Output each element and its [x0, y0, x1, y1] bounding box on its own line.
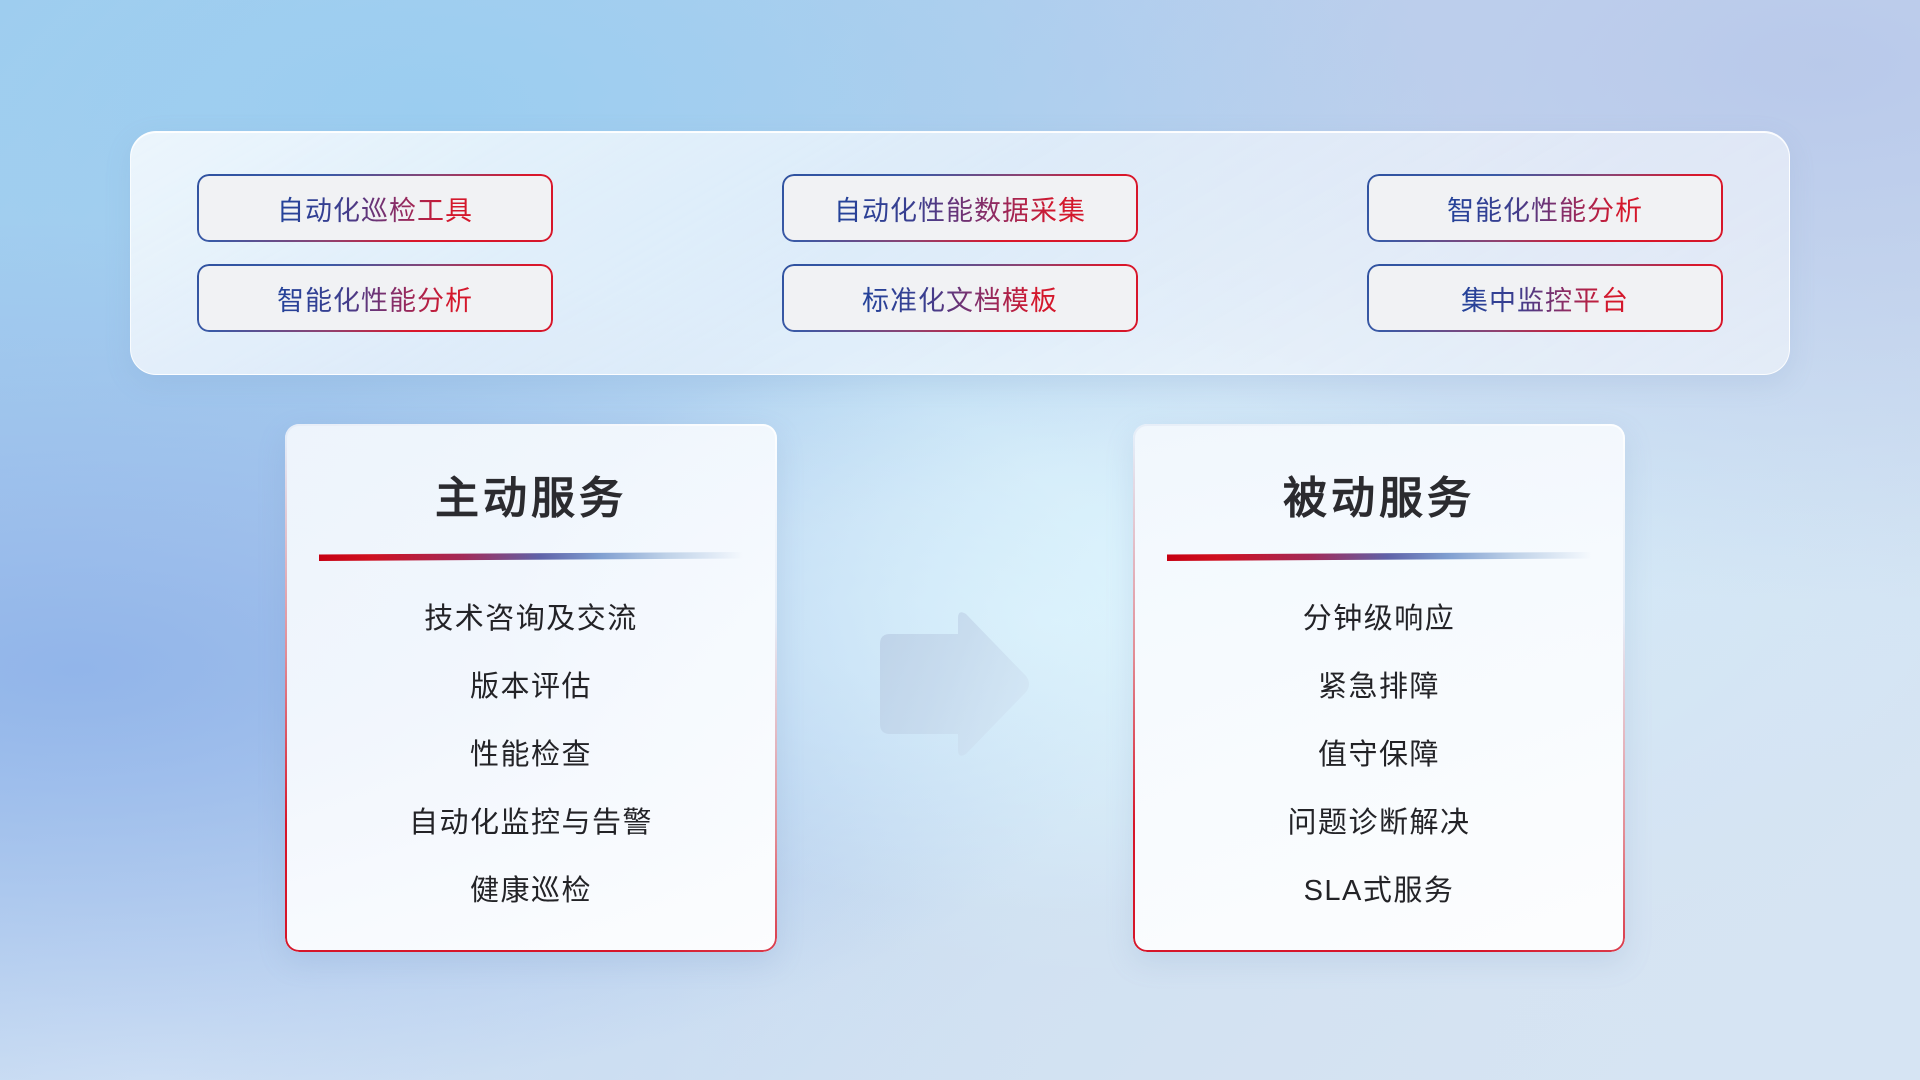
title-divider: [1167, 552, 1591, 561]
list-item: 版本评估: [470, 663, 592, 705]
capability-pill-label: 智能化性能分析: [1447, 189, 1643, 228]
list-item: 问题诊断解决: [1287, 799, 1470, 841]
list-item: 健康巡检: [470, 867, 592, 909]
list-item: 自动化监控与告警: [409, 799, 653, 841]
capability-pill-intelligent-performance-analysis-2[interactable]: 智能化性能分析: [197, 264, 553, 332]
list-item: SLA式服务: [1304, 867, 1455, 909]
capability-pill-automated-inspection-tool[interactable]: 自动化巡检工具: [197, 174, 553, 242]
slide-canvas: 自动化巡检工具 自动化性能数据采集 智能化性能分析 智能化性能分析 标准化文档模…: [0, 0, 1920, 1080]
list-item: 值守保障: [1318, 731, 1440, 773]
capability-pill-label: 自动化性能数据采集: [834, 189, 1086, 228]
list-item: 技术咨询及交流: [424, 595, 638, 637]
service-card-reactive: 被动服务 分钟级响应 紧急排障 值守保障 问题诊断解决 SLA式服务: [1133, 424, 1625, 952]
service-card-proactive: 主动服务 技术咨询及交流 版本评估 性能检查 自动化监控与告警 健康巡检: [285, 424, 777, 952]
list-item: 分钟级响应: [1303, 595, 1456, 637]
service-item-list: 分钟级响应 紧急排障 值守保障 问题诊断解决 SLA式服务: [1133, 595, 1625, 909]
capability-panel: 自动化巡检工具 自动化性能数据采集 智能化性能分析 智能化性能分析 标准化文档模…: [130, 131, 1790, 375]
service-item-list: 技术咨询及交流 版本评估 性能检查 自动化监控与告警 健康巡检: [285, 595, 777, 909]
capability-row-2: 智能化性能分析 标准化文档模板 集中监控平台: [197, 264, 1723, 332]
list-item: 紧急排障: [1318, 663, 1440, 705]
capability-pill-intelligent-performance-analysis[interactable]: 智能化性能分析: [1367, 174, 1723, 242]
list-item: 性能检查: [470, 731, 592, 773]
capability-row-1: 自动化巡检工具 自动化性能数据采集 智能化性能分析: [197, 174, 1723, 242]
title-divider: [319, 552, 743, 561]
service-card-title: 主动服务: [285, 462, 777, 526]
capability-pill-automated-performance-collection[interactable]: 自动化性能数据采集: [782, 174, 1138, 242]
arrow-right-icon: [872, 608, 1032, 760]
service-card-title: 被动服务: [1133, 462, 1625, 526]
capability-pill-label: 智能化性能分析: [277, 279, 473, 318]
capability-pill-label: 标准化文档模板: [862, 279, 1058, 318]
capability-pill-centralized-monitoring-platform[interactable]: 集中监控平台: [1367, 264, 1723, 332]
capability-pill-label: 自动化巡检工具: [277, 189, 473, 228]
capability-pill-label: 集中监控平台: [1461, 279, 1629, 318]
capability-pill-standard-document-template[interactable]: 标准化文档模板: [782, 264, 1138, 332]
